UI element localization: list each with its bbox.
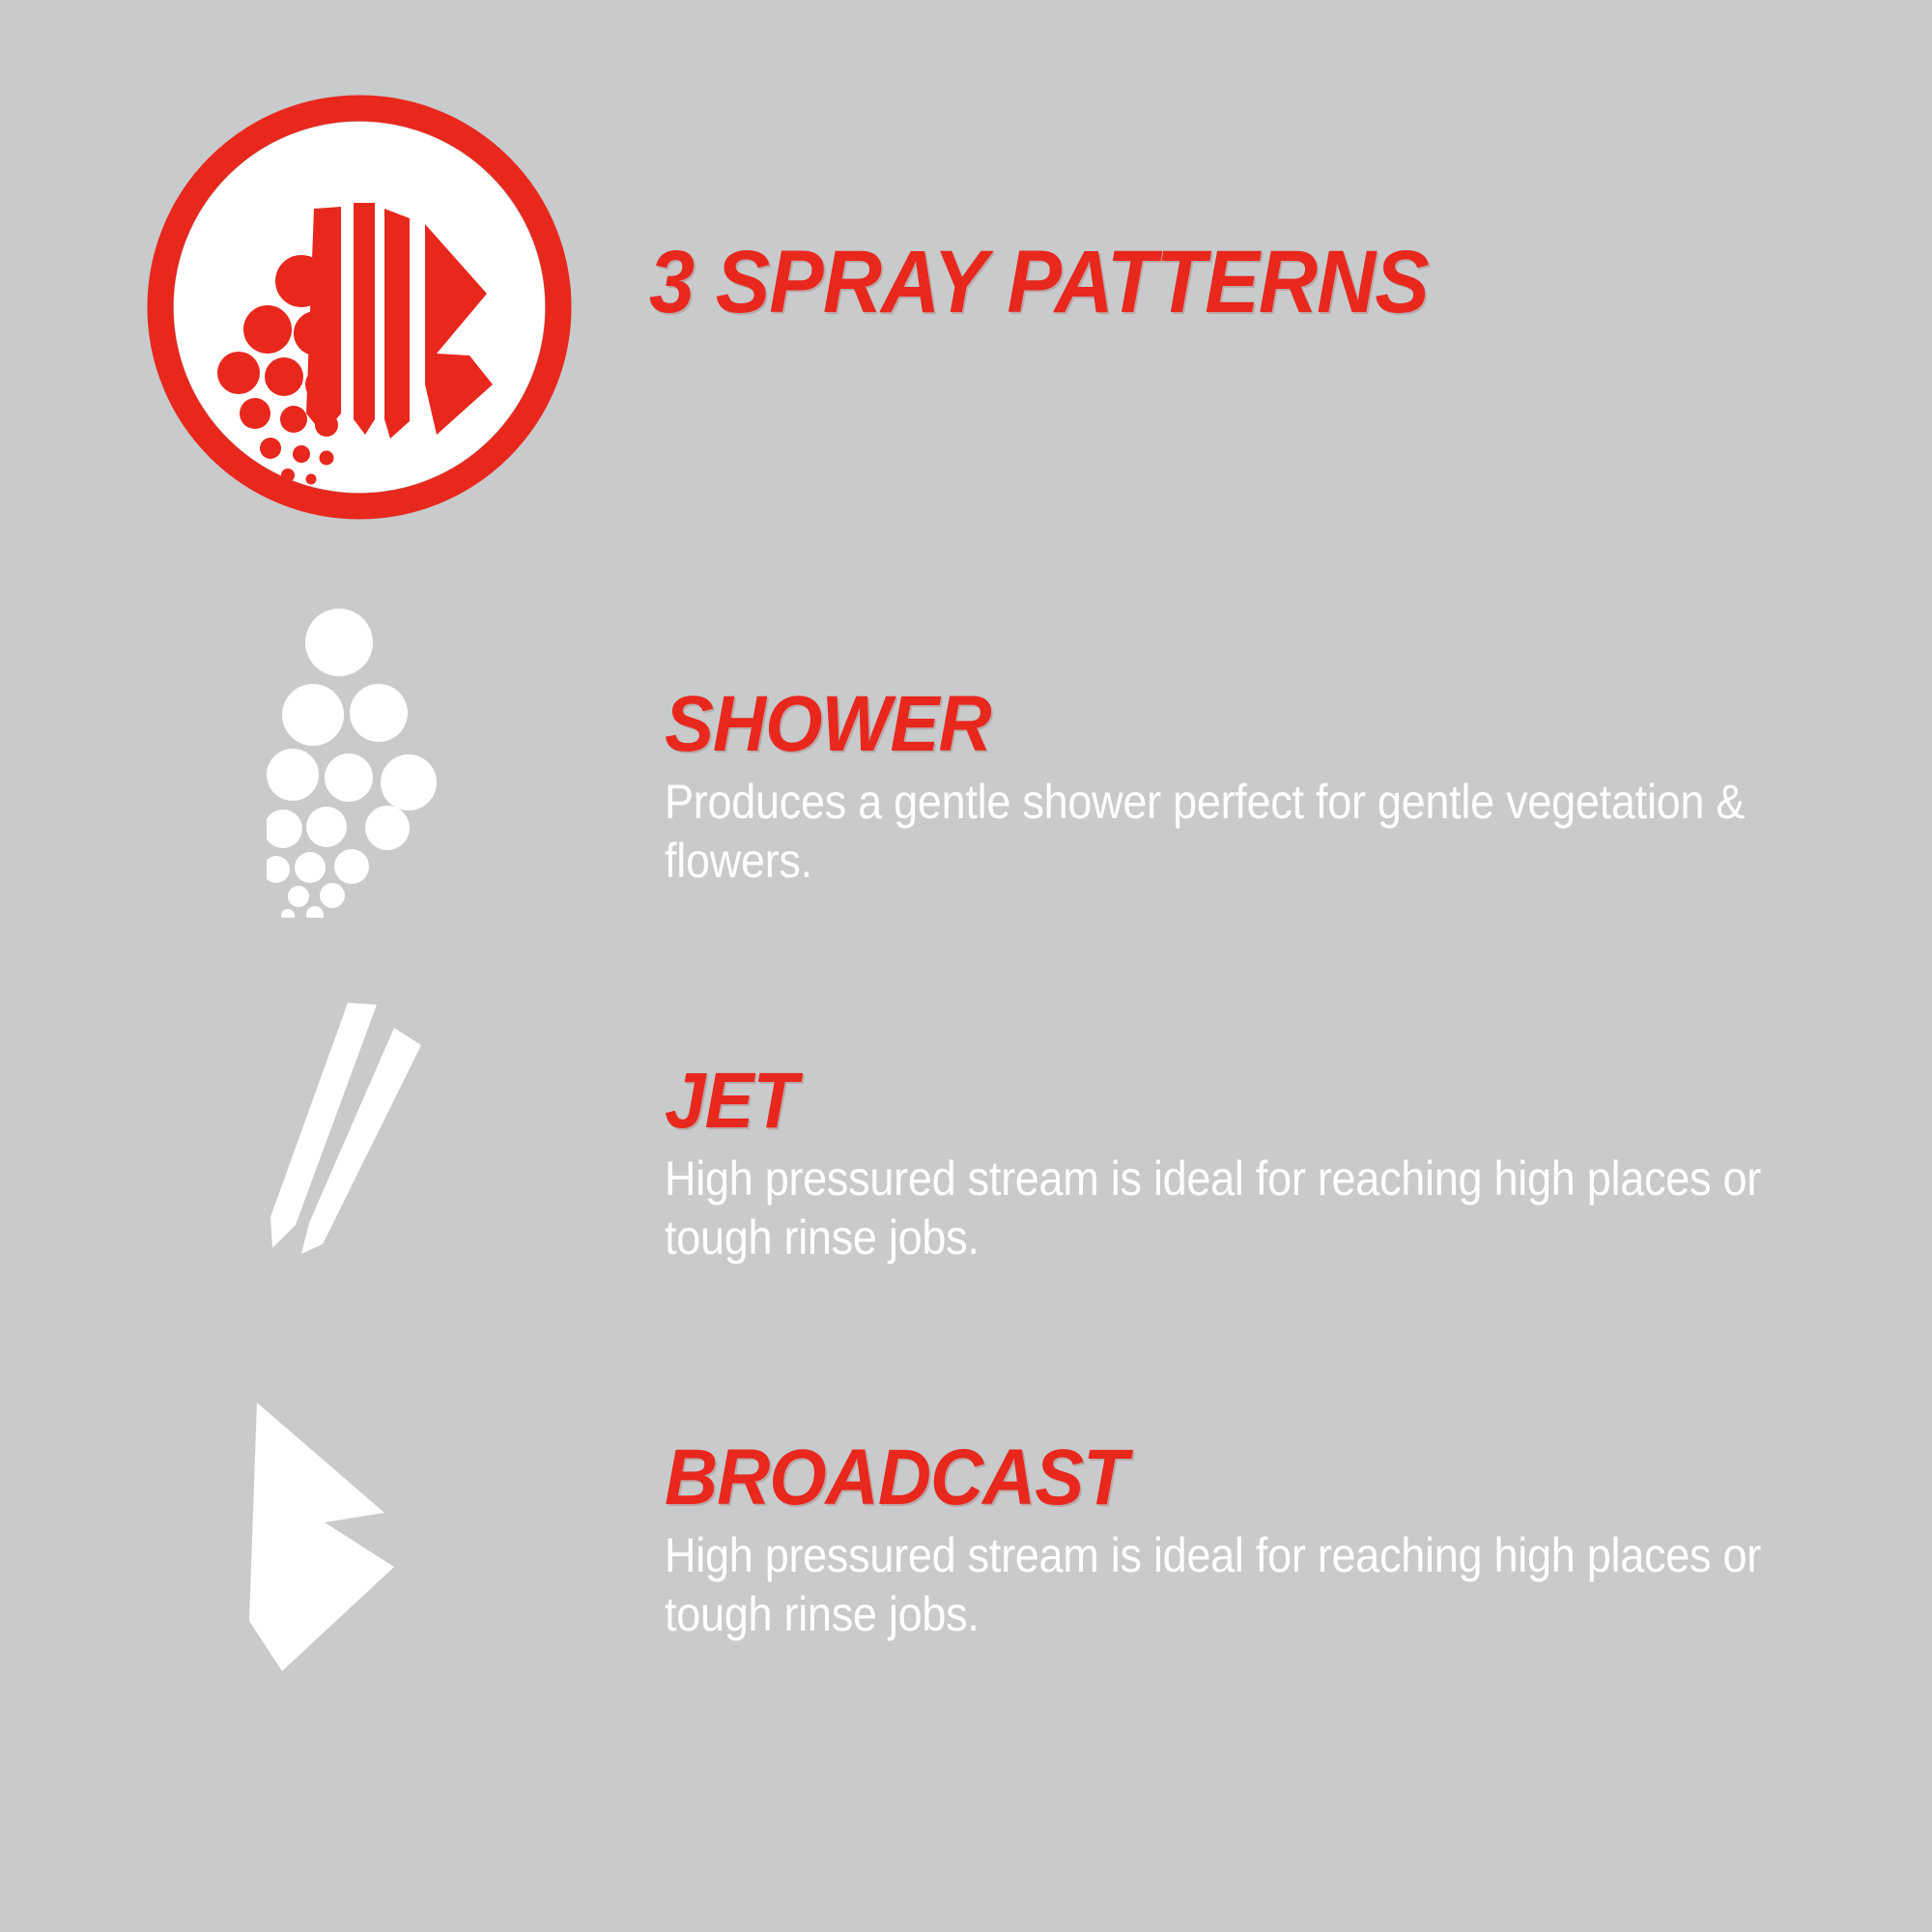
broadcast-fan-icon <box>240 1391 442 1671</box>
pattern-text-jet: JET High pressured stream is ideal for r… <box>665 1063 1804 1267</box>
pattern-heading-jet: JET <box>665 1063 1724 1140</box>
pattern-body-broadcast: High pressured stream is ideal for reach… <box>665 1526 1786 1644</box>
pattern-body-jet: High pressured stream is ideal for reach… <box>665 1150 1786 1267</box>
pattern-text-broadcast: BROADCAST High pressured stream is ideal… <box>665 1439 1804 1644</box>
pattern-heading-broadcast: BROADCAST <box>665 1439 1724 1517</box>
pattern-body-shower: Produces a gentle shower perfect for gen… <box>665 773 1786 891</box>
infographic-page: 3 SPRAY PATTERNS <box>0 0 1932 1932</box>
page-title: 3 SPRAY PATTERNS <box>649 238 1429 327</box>
spray-patterns-badge-icon <box>147 95 572 520</box>
shower-droplets-icon <box>267 609 450 918</box>
pattern-heading-shower: SHOWER <box>665 686 1724 763</box>
pattern-text-shower: SHOWER Produces a gentle shower perfect … <box>665 686 1804 891</box>
header: 3 SPRAY PATTERNS <box>0 0 1932 483</box>
jet-stream-icon <box>253 995 446 1256</box>
